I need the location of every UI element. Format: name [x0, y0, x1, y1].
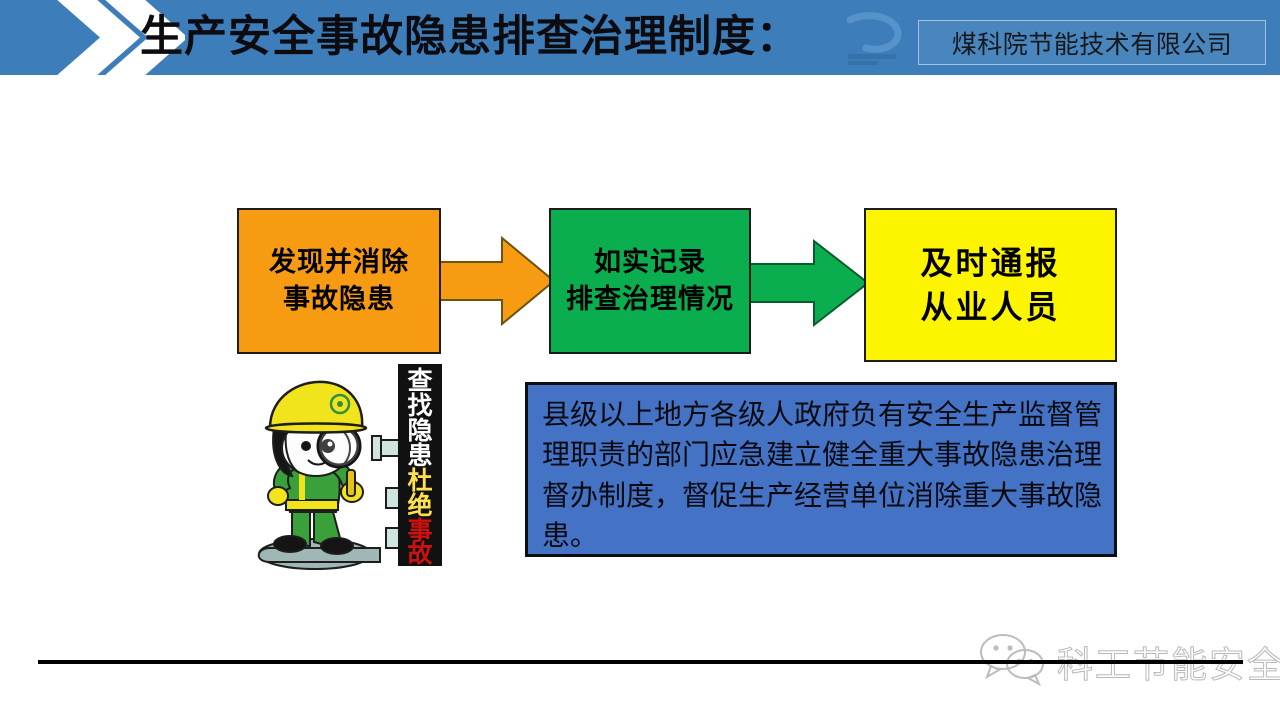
wechat-icon: [975, 630, 1055, 686]
header-banner: 生产安全事故隐患排查治理制度： 煤科院节能技术有限公司: [0, 0, 1280, 75]
flow-step-notify[interactable]: 及时通报 从业人员: [864, 208, 1117, 362]
flow-step-discover-label: 发现并消除 事故隐患: [269, 244, 409, 319]
regulation-note-text: 县级以上地方各级人政府负有安全生产监督管理职责的部门应急建立健全重大事故隐患治理…: [542, 395, 1102, 556]
safety-inspector-cartoon: 查 找 隐 患 杜 绝 事 故: [240, 362, 456, 578]
footer-divider: [38, 660, 1243, 664]
flow-step-notify-label: 及时通报 从业人员: [920, 241, 1060, 329]
company-name-label: 煤科院节能技术有限公司: [952, 25, 1233, 61]
flow-step-record[interactable]: 如实记录 排查治理情况: [549, 208, 751, 354]
company-name-box: 煤科院节能技术有限公司: [918, 20, 1266, 65]
flow-step-record-label: 如实记录 排查治理情况: [566, 244, 734, 319]
regulation-note-box: 县级以上地方各级人政府负有安全生产监督管理职责的部门应急建立健全重大事故隐患治理…: [525, 382, 1117, 557]
page-title: 生产安全事故隐患排查治理制度：: [140, 0, 800, 75]
company-logo-watermark: [840, 12, 910, 70]
arrow-right-green: [742, 238, 870, 328]
svg-text:故: 故: [407, 539, 433, 568]
arrow-right-orange: [432, 234, 556, 328]
flow-step-discover[interactable]: 发现并消除 事故隐患: [237, 208, 441, 354]
